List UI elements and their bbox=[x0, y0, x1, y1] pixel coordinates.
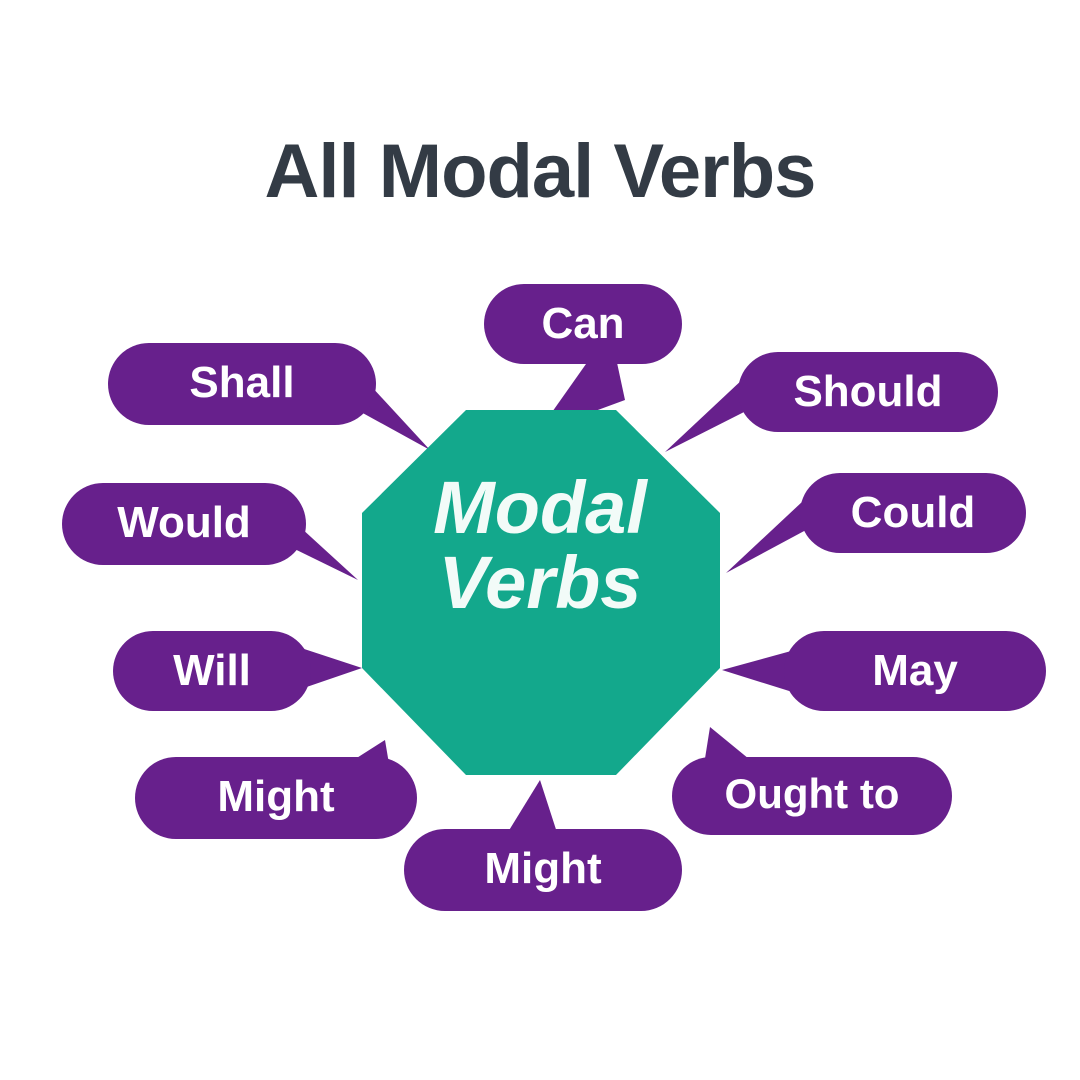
bubble-would[interactable] bbox=[62, 483, 306, 565]
bubble-may[interactable] bbox=[784, 631, 1046, 711]
bubble-should[interactable] bbox=[738, 352, 998, 432]
center-octagon bbox=[362, 410, 720, 775]
bubble-will[interactable] bbox=[113, 631, 311, 711]
bubble-can[interactable] bbox=[484, 284, 682, 364]
bubble-might-left[interactable] bbox=[135, 757, 417, 839]
bubble-could[interactable] bbox=[800, 473, 1026, 553]
bubble-shall[interactable] bbox=[108, 343, 376, 425]
modal-verbs-infographic: All Modal Verbs bbox=[0, 0, 1080, 1080]
mind-map-graphic bbox=[0, 0, 1080, 1080]
bubble-ought-to[interactable] bbox=[672, 757, 952, 835]
bubble-might-bottom[interactable] bbox=[404, 829, 682, 911]
